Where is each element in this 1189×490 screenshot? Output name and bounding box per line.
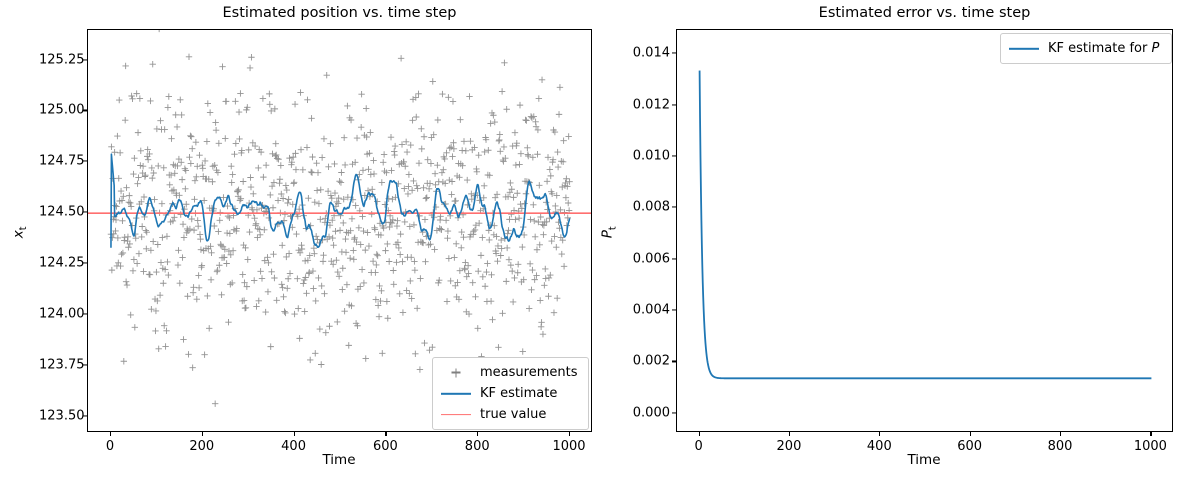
legend-label-prefix: KF estimate for	[1048, 41, 1151, 56]
ytick-mark	[83, 212, 87, 213]
legend-label-kf-estimate: KF estimate	[480, 386, 557, 401]
kf-estimate-p-line-icon	[1009, 42, 1039, 56]
xtick-label: 600	[957, 439, 982, 454]
matplotlib-figure: Estimated position vs. time step 123.501…	[0, 0, 1189, 490]
ytick-label: 0.006	[628, 251, 670, 266]
error-plot-canvas	[677, 30, 1173, 432]
ytick-label: 0.008	[628, 200, 670, 215]
xtick-label: 0	[694, 439, 702, 454]
legend-item-kf-estimate-p[interactable]: KF estimate for P	[1009, 38, 1163, 59]
legend-label-kf-estimate-p: KF estimate for P	[1048, 41, 1159, 56]
legend-item-measurements[interactable]: measurements	[441, 362, 580, 383]
error-xaxis-label: Time	[907, 452, 940, 468]
measurements-marker-icon	[441, 366, 471, 380]
position-yaxis-label: xt	[11, 226, 30, 238]
ytick-mark	[672, 412, 676, 413]
ytick-mark	[672, 207, 676, 208]
ytick-label: 124.00	[39, 306, 81, 321]
ytick-label: 125.00	[39, 103, 81, 118]
xtick-mark	[970, 432, 971, 436]
ytick-label: 124.50	[39, 205, 81, 220]
legend-label-italic-p: P	[1151, 41, 1159, 56]
ytick-label: 123.50	[39, 408, 81, 423]
legend-label-measurements: measurements	[480, 365, 577, 380]
xtick-label: 0	[106, 439, 114, 454]
ytick-mark	[83, 110, 87, 111]
xtick-mark	[385, 432, 386, 436]
position-legend[interactable]: measurements KF estimate true value	[432, 357, 589, 430]
ytick-mark	[672, 104, 676, 105]
error-plot-title: Estimated error vs. time step	[676, 5, 1173, 21]
ytick-mark	[672, 310, 676, 311]
ytick-mark	[672, 361, 676, 362]
xtick-label: 200	[189, 439, 214, 454]
ytick-label: 124.75	[39, 154, 81, 169]
xtick-mark	[789, 432, 790, 436]
xtick-label: 800	[465, 439, 490, 454]
ytick-label: 0.000	[628, 405, 670, 420]
error-legend[interactable]: KF estimate for P	[1000, 33, 1172, 64]
ytick-mark	[83, 161, 87, 162]
ytick-mark	[672, 258, 676, 259]
ytick-label: 0.002	[628, 354, 670, 369]
ytick-label: 0.012	[628, 97, 670, 112]
ytick-mark	[83, 415, 87, 416]
true-value-line-icon	[441, 408, 471, 422]
xtick-label: 600	[373, 439, 398, 454]
ytick-label: 0.014	[628, 46, 670, 61]
position-yaxis-label-sub: t	[18, 226, 29, 230]
xtick-mark	[477, 432, 478, 436]
xtick-mark	[202, 432, 203, 436]
error-axes	[676, 29, 1173, 432]
kf-error-line	[700, 71, 1152, 379]
kf-estimate-line	[111, 154, 570, 248]
ytick-label: 125.25	[39, 52, 81, 67]
ytick-label: 0.004	[628, 303, 670, 318]
ytick-label: 123.75	[39, 357, 81, 372]
ytick-label: 0.010	[628, 149, 670, 164]
xtick-mark	[1150, 432, 1151, 436]
xtick-label: 400	[867, 439, 892, 454]
ytick-mark	[672, 156, 676, 157]
xtick-label: 400	[281, 439, 306, 454]
legend-item-true-value[interactable]: true value	[441, 404, 580, 425]
xtick-label: 1000	[1134, 439, 1167, 454]
ytick-mark	[83, 59, 87, 60]
ytick-label: 124.25	[39, 256, 81, 271]
ytick-mark	[83, 364, 87, 365]
xtick-mark	[569, 432, 570, 436]
xtick-mark	[294, 432, 295, 436]
error-yaxis-label: Pt	[600, 226, 619, 238]
position-xaxis-label: Time	[322, 452, 355, 468]
position-plot-title: Estimated position vs. time step	[87, 5, 592, 21]
xtick-label: 200	[777, 439, 802, 454]
position-yaxis-label-base: x	[11, 230, 27, 238]
legend-label-true-value: true value	[480, 407, 546, 422]
xtick-mark	[699, 432, 700, 436]
xtick-mark	[879, 432, 880, 436]
kf-estimate-line-icon	[441, 387, 471, 401]
xtick-mark	[1060, 432, 1061, 436]
ytick-mark	[672, 53, 676, 54]
ytick-mark	[83, 263, 87, 264]
xtick-label: 1000	[552, 439, 585, 454]
measurements-scatter	[108, 30, 573, 407]
error-yaxis-label-sub: t	[607, 226, 618, 230]
xtick-mark	[110, 432, 111, 436]
legend-item-kf-estimate[interactable]: KF estimate	[441, 383, 580, 404]
error-yaxis-label-base: P	[600, 230, 616, 238]
xtick-label: 800	[1048, 439, 1073, 454]
ytick-mark	[83, 313, 87, 314]
